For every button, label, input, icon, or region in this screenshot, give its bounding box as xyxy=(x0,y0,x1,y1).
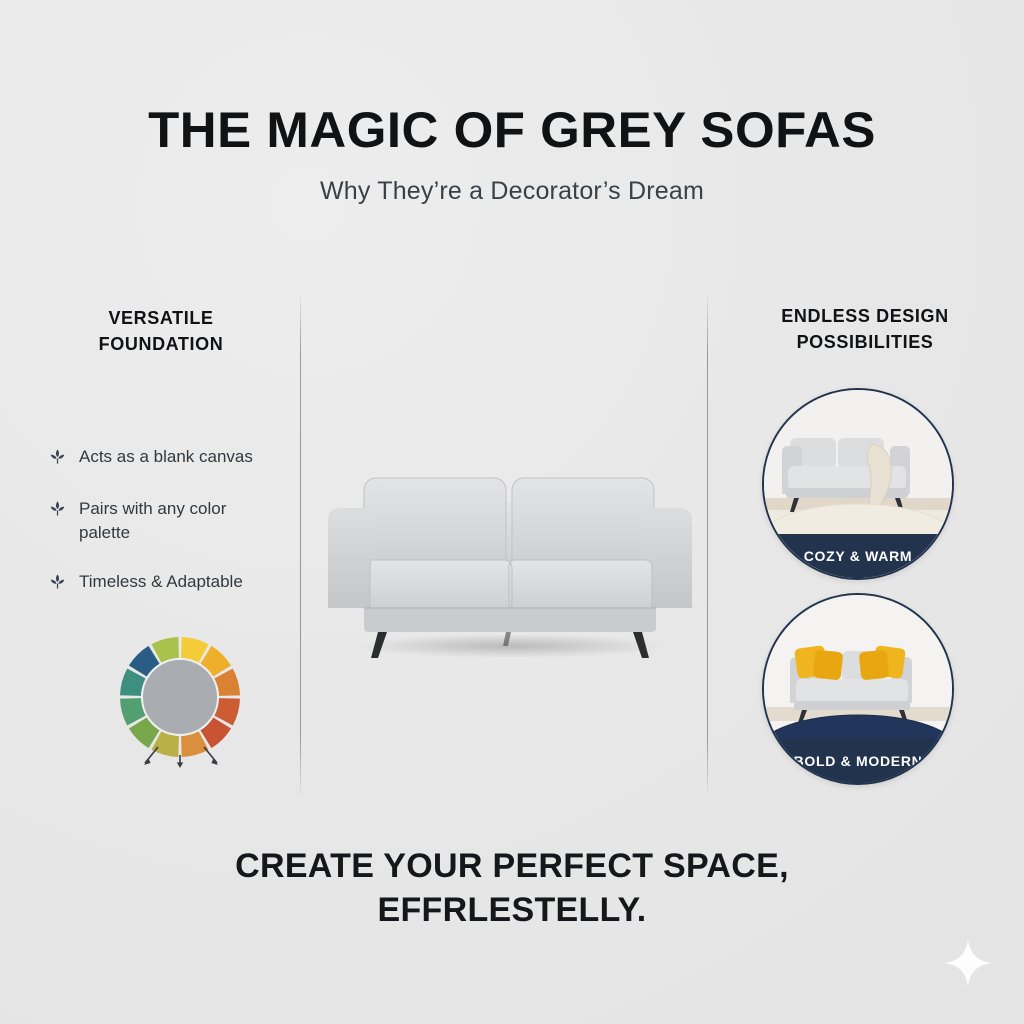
list-item-label: Acts as a blank canvas xyxy=(79,445,253,468)
list-item-label: Pairs with any color palette xyxy=(79,497,259,544)
list-item: Timeless & Adaptable xyxy=(48,570,292,596)
color-wheel xyxy=(120,637,240,757)
card-caption: BOLD & MODERN xyxy=(764,739,952,783)
footer-callout: CREATE YOUR PERFECT SPACE, EFFRLESTELLY. xyxy=(0,845,1024,932)
divider-left xyxy=(300,295,301,795)
page-subtitle: Why They’re a Decorator’s Dream xyxy=(0,177,1024,206)
footer-line-2: EFFRLESTELLY. xyxy=(0,889,1024,933)
left-heading-line-2: FOUNDATION xyxy=(30,331,292,357)
list-item-label: Timeless & Adaptable xyxy=(79,570,243,593)
left-heading-line-1: VERSATILE xyxy=(30,305,292,331)
leaf-icon xyxy=(48,572,67,596)
left-column-heading: VERSATILE FOUNDATION xyxy=(30,305,292,357)
right-column: ENDLESS DESIGN POSSIBILITIES xyxy=(740,303,990,355)
card-caption: COZY & WARM xyxy=(764,534,952,578)
left-column: VERSATILE FOUNDATION Acts as a blank can… xyxy=(30,305,292,622)
wheel-arrows xyxy=(145,747,217,765)
list-item: Acts as a blank canvas xyxy=(48,445,292,471)
hero-sofa-image xyxy=(320,450,700,680)
card-bold-modern[interactable]: BOLD & MODERN xyxy=(762,593,954,785)
footer-line-1: CREATE YOUR PERFECT SPACE, xyxy=(0,845,1024,889)
color-wheel-diagram xyxy=(118,635,288,810)
leaf-icon xyxy=(48,499,67,523)
divider-right xyxy=(707,295,708,795)
right-heading-line-1: ENDLESS DESIGN xyxy=(740,303,990,329)
card-cozy-warm[interactable]: COZY & WARM xyxy=(762,388,954,580)
header: THE MAGIC OF GREY SOFAS Why They’re a De… xyxy=(0,104,1024,206)
benefit-list: Acts as a blank canvas Pairs with any co… xyxy=(30,445,292,596)
wheel-arrowheads xyxy=(144,758,218,768)
sparkle-icon xyxy=(940,935,996,996)
list-item: Pairs with any color palette xyxy=(48,497,292,544)
leaf-icon xyxy=(48,447,67,471)
infographic-canvas: THE MAGIC OF GREY SOFAS Why They’re a De… xyxy=(0,0,1024,1024)
page-title: THE MAGIC OF GREY SOFAS xyxy=(0,104,1024,157)
right-column-heading: ENDLESS DESIGN POSSIBILITIES xyxy=(740,303,990,355)
right-heading-line-2: POSSIBILITIES xyxy=(740,329,990,355)
